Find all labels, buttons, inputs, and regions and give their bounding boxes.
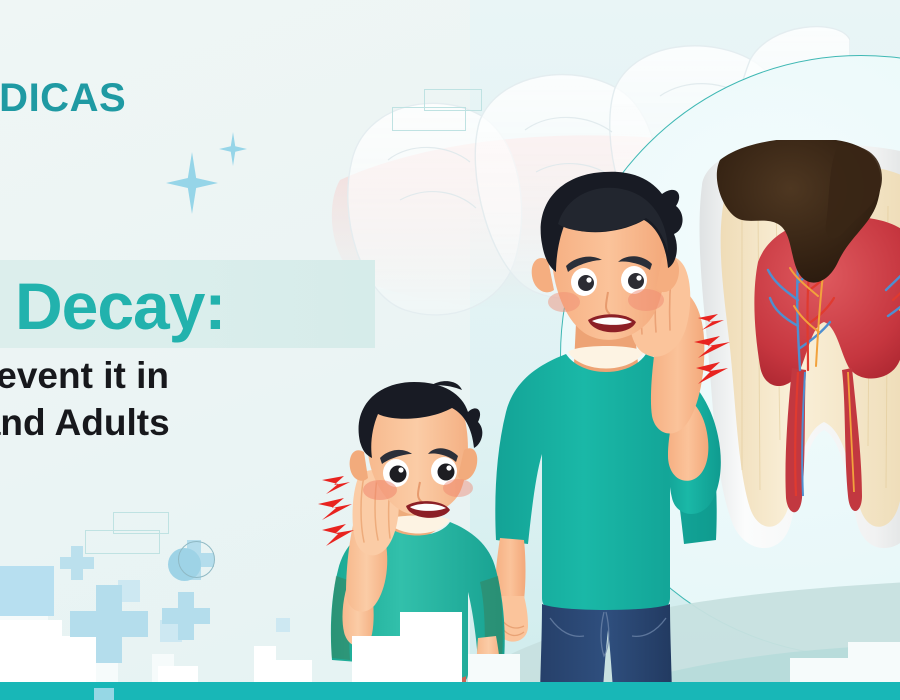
banner-canvas: EDICAS oth Decay: to Prevent it in ren a…: [0, 0, 900, 700]
page-subtitle-line2: ren and Adults: [0, 399, 170, 446]
bottom-teal-bar: [0, 682, 900, 700]
brand-logo[interactable]: EDICAS: [0, 76, 126, 121]
page-title: oth Decay:: [0, 262, 225, 350]
page-subtitle-line1: to Prevent it in: [0, 352, 170, 399]
outline-rect-bottom-lower: [85, 530, 160, 554]
medical-cross-icon-medium: [162, 592, 210, 640]
page-subtitle: to Prevent it in ren and Adults: [0, 352, 170, 446]
decorative-square-bottom: [94, 688, 114, 700]
medical-cross-icon-large: [70, 585, 148, 663]
decorative-square-left: [0, 566, 54, 616]
pain-bolt-group: [318, 476, 354, 546]
decorative-circle-outline: [178, 541, 215, 578]
outline-rect-top-lower: [392, 107, 466, 131]
